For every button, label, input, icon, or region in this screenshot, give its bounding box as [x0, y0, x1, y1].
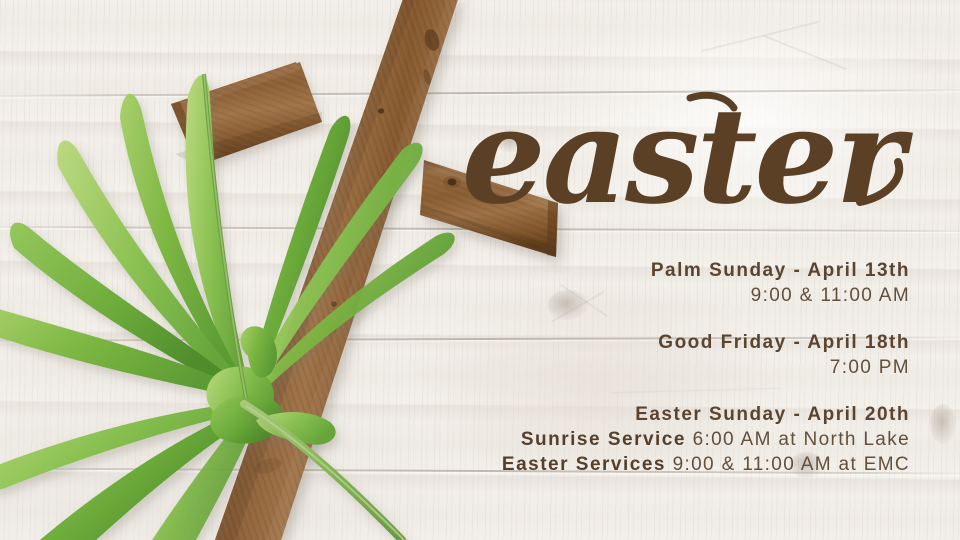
- service-schedule: Palm Sunday - April 13th 9:00 & 11:00 AM…: [350, 258, 910, 477]
- schedule-detail-bold: Easter Services: [502, 454, 666, 475]
- schedule-detail: 9:00 & 11:00 AM: [350, 283, 910, 308]
- easter-service-announcement-graphic: easter Palm Sunday - April 13th 9:00 & 1…: [0, 0, 960, 540]
- schedule-detail-bold: Sunrise Service: [521, 429, 686, 450]
- schedule-detail: Sunrise Service 6:00 AM at North Lake: [350, 427, 910, 452]
- headline-text: easter: [462, 79, 914, 234]
- headline-easter: easter: [390, 52, 910, 232]
- headline-script-art: easter: [390, 52, 910, 232]
- schedule-heading: Palm Sunday - April 13th: [350, 258, 910, 283]
- schedule-group: Easter Sunday - April 20th Sunrise Servi…: [350, 402, 910, 477]
- schedule-detail: Easter Services 9:00 & 11:00 AM at EMC: [350, 452, 910, 477]
- schedule-detail: 7:00 PM: [350, 355, 910, 380]
- schedule-detail-rest: 6:00 AM at North Lake: [686, 429, 910, 450]
- schedule-group: Palm Sunday - April 13th 9:00 & 11:00 AM: [350, 258, 910, 308]
- schedule-detail-rest: 9:00 & 11:00 AM: [751, 285, 910, 306]
- schedule-detail-rest: 7:00 PM: [830, 357, 910, 378]
- schedule-heading: Easter Sunday - April 20th: [350, 402, 910, 427]
- schedule-detail-rest: 9:00 & 11:00 AM at EMC: [666, 454, 910, 475]
- schedule-group: Good Friday - April 18th 7:00 PM: [350, 330, 910, 380]
- schedule-heading: Good Friday - April 18th: [350, 330, 910, 355]
